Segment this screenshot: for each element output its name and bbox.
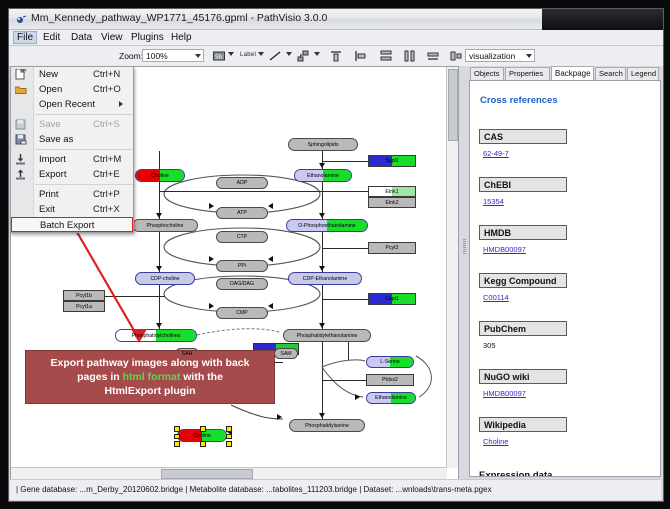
save-as-icon bbox=[15, 134, 27, 145]
callout-line2-a: pages in bbox=[77, 371, 123, 383]
menu-item-accelerator: Ctrl+P bbox=[93, 187, 120, 202]
edge-arrow-icon bbox=[209, 303, 214, 309]
svg-text:Sh: Sh bbox=[215, 54, 223, 61]
gene-node-ptdss2[interactable]: Ptdss2 bbox=[366, 374, 414, 386]
pathway-node-ppi[interactable]: PPi bbox=[216, 260, 268, 272]
selection-handle[interactable] bbox=[174, 434, 180, 440]
submenu-arrow-icon bbox=[119, 101, 123, 107]
node-label: L-Serine bbox=[380, 359, 400, 365]
distribute-horizontal-icon[interactable] bbox=[403, 49, 417, 63]
xref-value-kegg-compound[interactable]: C00114 bbox=[483, 293, 509, 302]
pathway-node-cdp-choline[interactable]: CDP-choline bbox=[135, 272, 195, 285]
line-dropdown-icon[interactable] bbox=[286, 52, 292, 56]
xref-name-kegg-compound: Kegg Compound bbox=[479, 273, 567, 288]
line-tool-icon[interactable] bbox=[268, 49, 282, 63]
pathway-node-dag-dag[interactable]: DAG/DAG bbox=[216, 278, 268, 290]
pathway-node-phosphatidylserine[interactable]: Phosphatidylserine bbox=[289, 419, 365, 432]
node-label: Ethanolamine bbox=[375, 395, 407, 401]
menu-item-label: Open Recent bbox=[39, 97, 95, 112]
selection-handle[interactable] bbox=[200, 426, 206, 432]
node-label: CDP-Ethanolamine bbox=[303, 276, 347, 282]
menu-item-label: Import bbox=[39, 152, 66, 167]
node-label: Choline bbox=[151, 173, 169, 179]
node-label: Pcyt1b bbox=[76, 293, 92, 299]
edge-arrow-icon bbox=[268, 303, 273, 309]
menu-item-save[interactable]: SaveCtrl+S bbox=[11, 117, 133, 132]
menu-plugins[interactable]: Plugins bbox=[127, 31, 168, 44]
menu-item-label: Save bbox=[39, 117, 61, 132]
menu-item-save-as[interactable]: Save as bbox=[11, 132, 133, 147]
side-panel: Objects Properties Backpage Search Legen… bbox=[461, 66, 662, 478]
xref-name-cas: CAS bbox=[479, 129, 567, 144]
node-label: Phosphatidylserine bbox=[305, 423, 349, 429]
xref-value-chebi[interactable]: 15354 bbox=[483, 197, 504, 206]
canvas-scrollbar-horizontal[interactable] bbox=[11, 467, 447, 479]
visualization-value: visualization bbox=[469, 51, 515, 61]
xref-value-wikipedia[interactable]: Choline bbox=[483, 437, 508, 446]
tab-search[interactable]: Search bbox=[595, 67, 626, 80]
node-label: Phosphocholine bbox=[147, 223, 184, 229]
node-label: Sphingolipids bbox=[308, 142, 339, 148]
chevron-down-icon bbox=[526, 54, 532, 58]
label-tool-label[interactable]: Label bbox=[240, 52, 256, 58]
gene-node-pcyt1a[interactable]: Pcyt1a bbox=[63, 301, 105, 312]
callout-highlight: html format bbox=[123, 371, 181, 383]
menu-item-accelerator: Ctrl+E bbox=[93, 167, 120, 182]
chevron-down-icon bbox=[195, 54, 201, 58]
pathway-node-cmp[interactable]: CMP bbox=[216, 307, 268, 319]
menu-data[interactable]: Data bbox=[67, 31, 96, 44]
scrollbar-thumb[interactable] bbox=[161, 469, 253, 479]
file-menu-popup[interactable]: NewCtrl+NOpenCtrl+OOpen RecentSaveCtrl+S… bbox=[10, 66, 134, 233]
zoom-combo[interactable]: 100% bbox=[142, 49, 204, 62]
node-label: Pcyt2 bbox=[386, 245, 399, 251]
selection-handle[interactable] bbox=[174, 441, 180, 447]
align-left-icon[interactable] bbox=[353, 49, 367, 63]
pathway-node-l-serine[interactable]: L-Serine bbox=[366, 356, 414, 368]
screenshot-root: Mm_Kennedy_pathway_WP1771_45176.gpml - P… bbox=[0, 0, 670, 509]
node-label: CTP bbox=[237, 234, 247, 240]
gene-node-sgpl1[interactable]: Sgpl1 bbox=[368, 155, 416, 167]
cross-references-heading: Cross references bbox=[480, 95, 558, 106]
menu-file[interactable]: File bbox=[13, 31, 37, 44]
node-label: Ptdss2 bbox=[382, 377, 398, 383]
edge-arrow-icon bbox=[268, 203, 273, 209]
side-panel-rail[interactable] bbox=[461, 80, 469, 477]
tab-objects[interactable]: Objects bbox=[470, 67, 504, 80]
menu-item-label: Exit bbox=[39, 202, 55, 217]
xref-value-hmdb[interactable]: HMDB00097 bbox=[483, 245, 526, 254]
menu-item-open-recent[interactable]: Open Recent bbox=[11, 97, 133, 112]
menu-separator bbox=[35, 149, 133, 150]
menu-item-label: Open bbox=[39, 82, 62, 97]
node-label: Etnk2 bbox=[385, 200, 398, 206]
align-top-icon[interactable] bbox=[329, 49, 343, 63]
menu-item-accelerator: Ctrl+M bbox=[93, 152, 121, 167]
edge-line bbox=[322, 161, 368, 162]
node-label: Choline bbox=[193, 433, 211, 439]
xref-name-chebi: ChEBI bbox=[479, 177, 567, 192]
align-stack-icon[interactable] bbox=[426, 49, 440, 63]
menu-item-label: Export bbox=[39, 167, 66, 182]
import-icon bbox=[15, 154, 27, 165]
edge-arrow-icon bbox=[277, 414, 282, 420]
pathway-node-phosphatidylcholines[interactable]: Phosphatidylcholines bbox=[115, 329, 197, 342]
node-label: Phosphatidylcholines bbox=[132, 333, 181, 339]
backpage-content: Cross references CAS62-49-7ChEBI15354HMD… bbox=[469, 80, 661, 477]
callout-line3: HtmlExport plugin bbox=[51, 384, 250, 398]
menu-view[interactable]: View bbox=[97, 31, 127, 44]
menu-item-accelerator: Ctrl+S bbox=[93, 117, 120, 132]
node-label: Phosphatidylethanolamine bbox=[297, 333, 358, 339]
open-folder-icon bbox=[15, 84, 27, 95]
node-label: SAH bbox=[182, 351, 193, 357]
pathway-node-phosphocholine[interactable]: Phosphocholine bbox=[132, 219, 198, 232]
node-label: ADP bbox=[237, 180, 248, 186]
selection-handle[interactable] bbox=[226, 441, 232, 447]
node-label: Cept1 bbox=[385, 296, 399, 302]
menu-item-export[interactable]: ExportCtrl+E bbox=[11, 167, 133, 182]
gene-node-etnk1[interactable]: Etnk1 bbox=[368, 186, 416, 197]
pathway-node-cdp-ethanolamine[interactable]: CDP-Ethanolamine bbox=[288, 272, 362, 285]
new-document-icon bbox=[15, 69, 27, 80]
menu-item-label: New bbox=[39, 67, 58, 82]
toolbar: Zoom: 100% Sh Label bbox=[9, 46, 663, 67]
node-label: Sgpl1 bbox=[385, 158, 398, 164]
drag-grip-icon[interactable] bbox=[463, 239, 466, 255]
xref-name-pubchem: PubChem bbox=[479, 321, 567, 336]
xref-value-pubchem: 305 bbox=[483, 341, 496, 350]
pathway-node-ethanolamine[interactable]: Ethanolamine bbox=[294, 169, 352, 182]
menu-edit[interactable]: Edit bbox=[39, 31, 64, 44]
tab-legend[interactable]: Legend bbox=[627, 67, 659, 80]
menu-item-label: Batch Export bbox=[40, 218, 94, 233]
menu-item-accelerator: Ctrl+X bbox=[93, 202, 120, 217]
visualization-combo[interactable]: visualization bbox=[465, 49, 535, 62]
edge-line bbox=[322, 380, 366, 381]
xref-name-hmdb: HMDB bbox=[479, 225, 567, 240]
edge-arrow-icon bbox=[209, 256, 214, 262]
edge-line bbox=[322, 299, 368, 300]
node-label: Ethanolamine bbox=[307, 173, 339, 179]
gene-node-etnk2[interactable]: Etnk2 bbox=[368, 197, 416, 208]
menu-item-print[interactable]: PrintCtrl+P bbox=[11, 187, 133, 202]
canvas-scrollbar-vertical[interactable] bbox=[446, 67, 458, 468]
expression-data-heading: Expression data bbox=[479, 470, 552, 477]
tab-properties[interactable]: Properties bbox=[505, 67, 550, 80]
menu-item-label: Print bbox=[39, 187, 59, 202]
node-label: O-Phosphoethanolamine bbox=[298, 223, 355, 229]
menu-bar: File Edit Data View Plugins Help bbox=[9, 30, 663, 46]
node-label: DAG/DAG bbox=[230, 281, 254, 287]
menu-item-label: Save as bbox=[39, 132, 73, 147]
node-label: Etnk1 bbox=[385, 189, 398, 195]
edge-arrow-icon bbox=[209, 203, 214, 209]
callout-line2-c: with the bbox=[180, 371, 223, 383]
pathway-node-sphingolipids[interactable]: Sphingolipids bbox=[288, 138, 358, 151]
xref-name-wikipedia: Wikipedia bbox=[479, 417, 567, 432]
gene-node-pcyt2[interactable]: Pcyt2 bbox=[368, 242, 416, 254]
menu-item-import[interactable]: ImportCtrl+M bbox=[11, 152, 133, 167]
menu-item-batch-export[interactable]: Batch Export bbox=[11, 217, 133, 232]
status-bar: | Gene database: ...m_Derby_20120602.bri… bbox=[10, 479, 661, 500]
connector-dropdown-icon[interactable] bbox=[314, 52, 320, 56]
pathway-node-atp[interactable]: ATP bbox=[216, 207, 268, 219]
title-bar: Mm_Kennedy_pathway_WP1771_45176.gpml - P… bbox=[9, 9, 663, 30]
status-bar-text: | Gene database: ...m_Derby_20120602.bri… bbox=[16, 485, 492, 494]
menu-item-open[interactable]: OpenCtrl+O bbox=[11, 82, 133, 97]
xref-name-nugo-wiki: NuGO wiki bbox=[479, 369, 567, 384]
node-label: PPi bbox=[238, 263, 246, 269]
pathway-node-sam[interactable]: SAM bbox=[274, 348, 298, 359]
node-label: SAM bbox=[280, 351, 291, 357]
node-label: CDP-choline bbox=[150, 276, 179, 282]
node-label: CMP bbox=[236, 310, 248, 316]
node-label: Pcyt1a bbox=[76, 304, 92, 310]
pathway-node-o-phosphoethanolamine[interactable]: O-Phosphoethanolamine bbox=[286, 219, 368, 232]
edge-arrow-icon bbox=[355, 394, 360, 400]
selection-handle[interactable] bbox=[174, 426, 180, 432]
menu-item-exit[interactable]: ExitCtrl+X bbox=[11, 202, 133, 217]
zoom-value: 100% bbox=[146, 51, 168, 61]
menu-separator bbox=[35, 184, 133, 185]
gene-node-cept1[interactable]: Cept1 bbox=[368, 293, 416, 305]
selection-handle[interactable] bbox=[200, 441, 206, 447]
pathway-node-ctp[interactable]: CTP bbox=[216, 231, 268, 243]
pathway-node-adp[interactable]: ADP bbox=[216, 177, 268, 189]
edge-line bbox=[322, 248, 368, 249]
window-title: Mm_Kennedy_pathway_WP1771_45176.gpml - P… bbox=[31, 12, 327, 24]
gene-node-pcyt1b[interactable]: Pcyt1b bbox=[63, 290, 105, 301]
pathvisio-window: Mm_Kennedy_pathway_WP1771_45176.gpml - P… bbox=[8, 8, 664, 502]
align-middle-icon[interactable] bbox=[379, 49, 393, 63]
title-bar-right-region bbox=[542, 9, 663, 30]
xref-value-nugo-wiki[interactable]: HMDB00097 bbox=[483, 389, 526, 398]
edge-arrow-icon bbox=[268, 256, 273, 262]
annotation-callout: Export pathway images along with back pa… bbox=[25, 350, 275, 404]
menu-separator bbox=[35, 114, 133, 115]
selection-handle[interactable] bbox=[226, 426, 232, 432]
menu-item-accelerator: Ctrl+N bbox=[93, 67, 120, 82]
shape-tool-icon[interactable]: Sh bbox=[212, 49, 226, 63]
selection-handle[interactable] bbox=[226, 434, 232, 440]
callout-line1: Export pathway images along with back bbox=[51, 356, 250, 370]
group-tool-icon[interactable] bbox=[449, 49, 463, 63]
edge-line bbox=[105, 296, 165, 297]
scrollbar-thumb[interactable] bbox=[448, 69, 458, 141]
menu-item-accelerator: Ctrl+O bbox=[93, 82, 121, 97]
menu-item-new[interactable]: NewCtrl+N bbox=[11, 67, 133, 82]
side-panel-tabs: Objects Properties Backpage Search Legen… bbox=[461, 66, 662, 80]
pathway-node-phosphatidylethanolamine[interactable]: Phosphatidylethanolamine bbox=[283, 329, 371, 342]
xref-value-cas[interactable]: 62-49-7 bbox=[483, 149, 509, 158]
label-dropdown-icon[interactable] bbox=[258, 52, 264, 56]
callout-line2: pages in html format with the bbox=[51, 370, 250, 384]
connector-tool-icon[interactable] bbox=[296, 49, 310, 63]
pathway-node-ethanolamine[interactable]: Ethanolamine bbox=[366, 392, 416, 404]
export-icon bbox=[15, 169, 27, 180]
save-disk-icon bbox=[15, 119, 27, 130]
pathway-node-choline[interactable]: Choline bbox=[135, 169, 185, 182]
zoom-label: Zoom: bbox=[119, 51, 143, 61]
tab-backpage[interactable]: Backpage bbox=[551, 66, 594, 80]
pathvisio-icon bbox=[15, 13, 27, 25]
shape-dropdown-icon[interactable] bbox=[228, 52, 234, 56]
menu-help[interactable]: Help bbox=[167, 31, 196, 44]
node-label: ATP bbox=[237, 210, 247, 216]
edge-line bbox=[159, 191, 369, 192]
